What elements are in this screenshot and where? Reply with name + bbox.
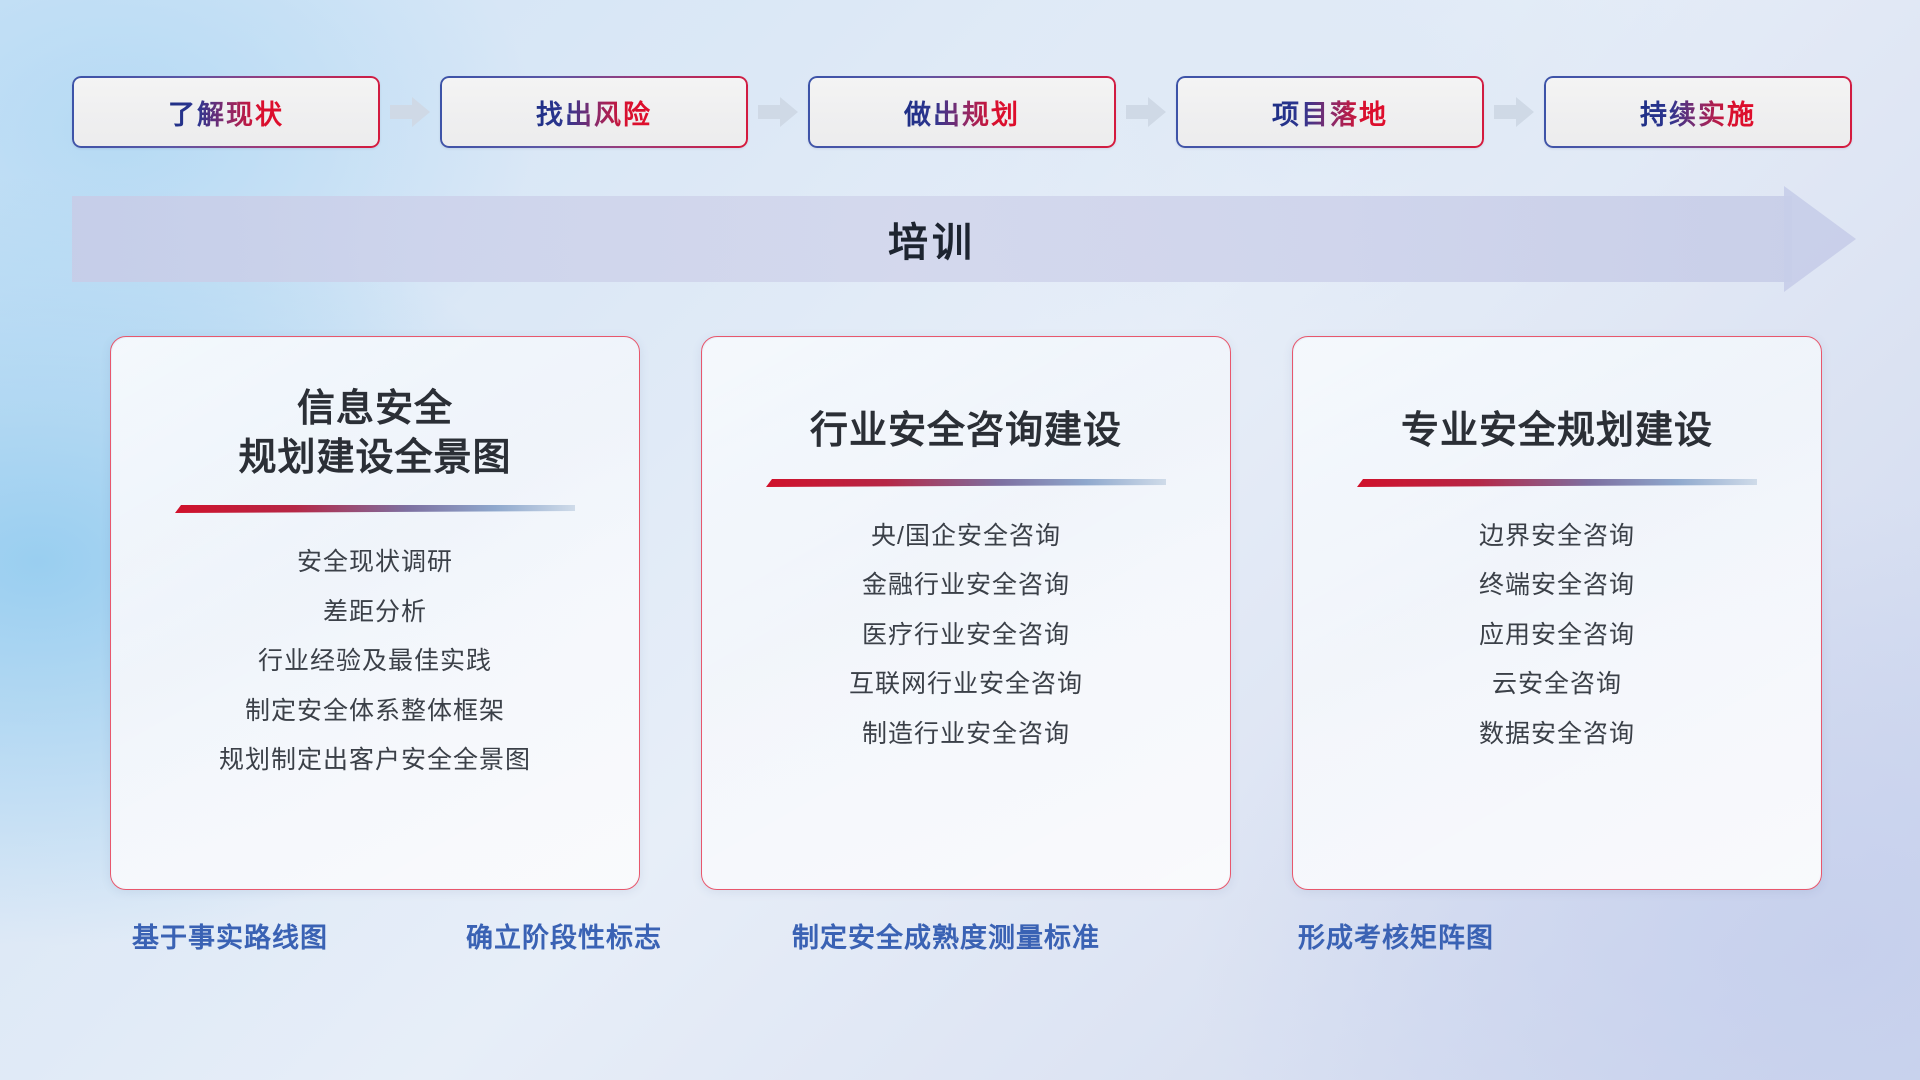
card-title: 专业安全规划建设 (1293, 407, 1821, 456)
card-divider (766, 478, 1166, 488)
slide-canvas: 了解现状 找出风险 做出规划 项目落地 持续实施 培训 (0, 0, 1920, 1080)
step-box-4[interactable]: 项目落地 (1176, 76, 1484, 148)
list-item: 边界安全咨询 (1479, 518, 1635, 556)
arrow-right-icon (758, 97, 798, 127)
training-banner: 培训 (72, 196, 1856, 282)
step-box-2[interactable]: 找出风险 (440, 76, 748, 148)
step-label: 持续实施 (1640, 93, 1756, 132)
banner-arrow-head-icon (1784, 186, 1856, 292)
list-item: 金融行业安全咨询 (862, 567, 1070, 605)
list-item: 云安全咨询 (1492, 666, 1622, 704)
list-item: 终端安全咨询 (1479, 567, 1635, 605)
step-label: 了解现状 (168, 93, 284, 132)
footer-label-3: 制定安全成熟度测量标准 (792, 916, 1100, 955)
arrow-right-icon (390, 97, 430, 127)
list-item: 制定安全体系整体框架 (245, 693, 505, 731)
list-item: 医疗行业安全咨询 (862, 617, 1070, 655)
list-item: 应用安全咨询 (1479, 617, 1635, 655)
footer-label-1: 基于事实路线图 (132, 916, 328, 955)
card-row: 信息安全 规划建设全景图 (110, 336, 1822, 890)
step-box-5[interactable]: 持续实施 (1544, 76, 1852, 148)
process-steps: 了解现状 找出风险 做出规划 项目落地 持续实施 (72, 76, 1852, 148)
list-item: 互联网行业安全咨询 (849, 666, 1083, 704)
list-item: 规划制定出客户安全全景图 (219, 742, 531, 780)
card-list: 边界安全咨询 终端安全咨询 应用安全咨询 云安全咨询 数据安全咨询 (1293, 518, 1821, 754)
arrow-right-icon (1126, 97, 1166, 127)
card-title: 行业安全咨询建设 (702, 407, 1230, 456)
footer-labels: 基于事实路线图 确立阶段性标志 制定安全成熟度测量标准 形成考核矩阵图 (0, 916, 1920, 972)
card-list: 央/国企安全咨询 金融行业安全咨询 医疗行业安全咨询 互联网行业安全咨询 制造行… (702, 518, 1230, 754)
card-title: 信息安全 规划建设全景图 (111, 385, 639, 482)
card-1[interactable]: 信息安全 规划建设全景图 (110, 336, 640, 890)
card-3[interactable]: 专业安全规划建设 (1292, 336, 1822, 890)
step-box-1[interactable]: 了解现状 (72, 76, 380, 148)
list-item: 安全现状调研 (297, 544, 453, 582)
list-item: 制造行业安全咨询 (862, 716, 1070, 754)
step-label: 找出风险 (536, 93, 652, 132)
step-label: 做出规划 (904, 93, 1020, 132)
card-list: 安全现状调研 差距分析 行业经验及最佳实践 制定安全体系整体框架 规划制定出客户… (111, 544, 639, 780)
list-item: 差距分析 (323, 594, 427, 632)
arrow-right-icon (1494, 97, 1534, 127)
footer-label-4: 形成考核矩阵图 (1298, 916, 1494, 955)
footer-label-2: 确立阶段性标志 (466, 916, 662, 955)
list-item: 央/国企安全咨询 (871, 518, 1061, 556)
list-item: 数据安全咨询 (1479, 716, 1635, 754)
step-label: 项目落地 (1272, 93, 1388, 132)
card-divider (175, 504, 575, 514)
card-2[interactable]: 行业安全咨询建设 (701, 336, 1231, 890)
list-item: 行业经验及最佳实践 (258, 643, 492, 681)
step-box-3[interactable]: 做出规划 (808, 76, 1116, 148)
card-divider (1357, 478, 1757, 488)
banner-title: 培训 (72, 196, 1792, 282)
